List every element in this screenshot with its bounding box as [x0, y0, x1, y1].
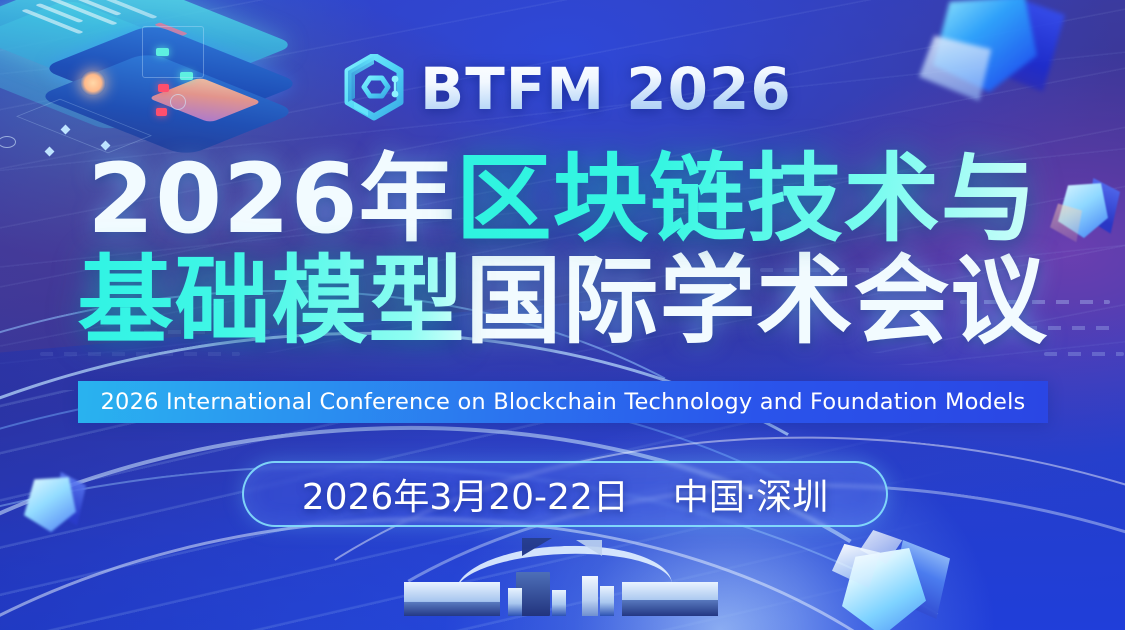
banner-content: BTFM 2026 2026年区块链技术与 基础模型国际学术会议 2026 In… [0, 0, 1125, 630]
main-title-line-1: 2026年区块链技术与 [0, 148, 1125, 250]
main-title-tail: 国际学术会议 [466, 245, 1048, 357]
subtitle-english: 2026 International Conference on Blockch… [101, 389, 1026, 415]
conference-date: 2026年3月20-22日 [302, 468, 629, 520]
blockchain-hexagon-icon [342, 54, 406, 124]
brand-lockup: BTFM 2026 [342, 54, 792, 124]
date-location-pill: 2026年3月20-22日 中国·深圳 [242, 461, 888, 527]
brand-title: BTFM 2026 [420, 60, 792, 118]
main-title-highlight-1: 区块链技术与 [456, 143, 1038, 255]
conference-banner: BTFM 2026 2026年区块链技术与 基础模型国际学术会议 2026 In… [0, 0, 1125, 630]
conference-location: 中国·深圳 [673, 468, 828, 520]
main-title-highlight-2: 基础模型 [78, 245, 466, 357]
subtitle-bar: 2026 International Conference on Blockch… [78, 381, 1048, 423]
main-title-year: 2026年 [87, 143, 455, 255]
main-title-line-2: 基础模型国际学术会议 [0, 250, 1125, 352]
main-title-chinese: 2026年区块链技术与 基础模型国际学术会议 [0, 148, 1125, 352]
